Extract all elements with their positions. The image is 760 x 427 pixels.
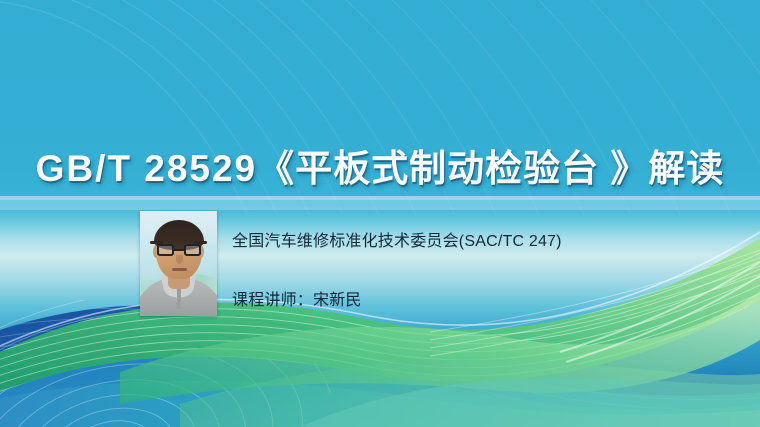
eyeglass-lens-right <box>184 244 201 256</box>
background-base-gradient <box>0 0 760 427</box>
presentation-slide: GB/T 28529《平板式制动检验台 》解读 全国汽车维修标准化技术委员会(S… <box>0 0 760 427</box>
lecturer-label: 课程讲师：宋新民 <box>232 286 362 310</box>
page-title: GB/T 28529《平板式制动检验台 》解读 <box>0 144 760 194</box>
eyeglass-lens-left <box>157 244 174 256</box>
title-standard-number: GB/T 28529 <box>36 148 258 189</box>
title-chinese-text: 《平板式制动检验台 》解读 <box>257 148 724 189</box>
portrait-shirt-placket <box>177 287 181 309</box>
portrait-nose <box>176 255 183 264</box>
eyeglass-bridge <box>174 249 184 251</box>
lecturer-portrait-photo <box>140 211 217 316</box>
organization-label: 全国汽车维修标准化技术委员会(SAC/TC 247) <box>232 227 562 251</box>
portrait-mouth <box>172 268 187 271</box>
background-wave-graphic <box>0 0 760 427</box>
